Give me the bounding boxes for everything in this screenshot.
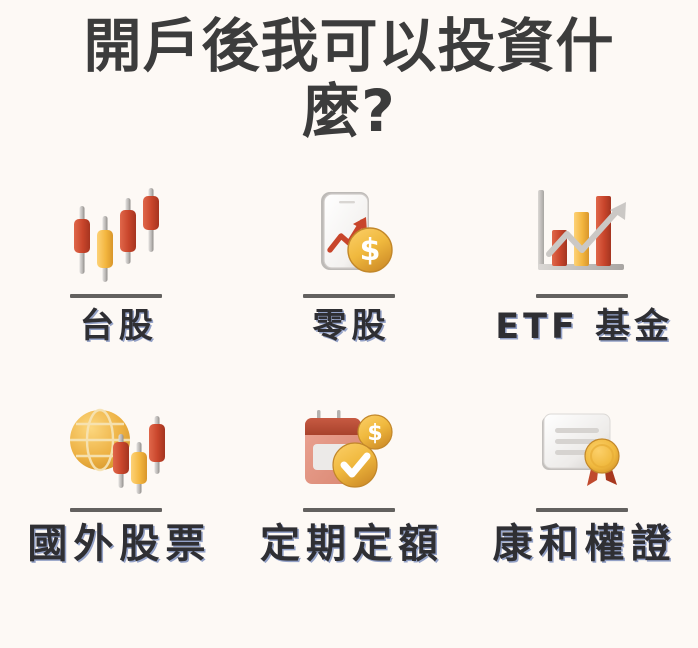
phone-chart-coin-icon: $ [284, 180, 414, 288]
option-card-candlestick[interactable]: 台股 [0, 162, 233, 378]
option-divider [70, 294, 162, 298]
svg-text:$: $ [367, 421, 382, 446]
certificate-award-icon [517, 396, 647, 504]
page-title: 開戶後我可以投資什麼? [0, 0, 698, 144]
option-card-regular-investment[interactable]: $ 定期定額 [233, 378, 466, 594]
investment-options-page: 開戶後我可以投資什麼? [0, 0, 698, 648]
candlestick-chart-icon [51, 180, 181, 288]
option-card-foreign-stock[interactable]: 國外股票 [0, 378, 233, 594]
option-label-regular-investment: 定期定額 [254, 522, 444, 566]
option-label-candlestick: 台股 [75, 308, 158, 345]
option-label-warrant: 康和權證 [487, 522, 677, 566]
option-card-fractional[interactable]: $ 零股 [233, 162, 466, 378]
option-label-etf: ETF 基金 [490, 308, 673, 347]
svg-text:$: $ [360, 233, 381, 268]
option-divider [303, 294, 395, 298]
option-card-etf[interactable]: ETF 基金 [465, 162, 698, 378]
calendar-check-coin-icon: $ [284, 396, 414, 504]
option-divider [70, 508, 162, 512]
option-divider [536, 508, 628, 512]
bar-chart-arrow-icon [517, 180, 647, 288]
option-card-warrant[interactable]: 康和權證 [465, 378, 698, 594]
investment-options-grid: 台股 [0, 162, 698, 594]
option-label-foreign-stock: 國外股票 [21, 522, 211, 566]
option-divider [303, 508, 395, 512]
option-label-fractional: 零股 [307, 308, 390, 345]
globe-candlestick-icon [51, 396, 181, 504]
option-divider [536, 294, 628, 298]
